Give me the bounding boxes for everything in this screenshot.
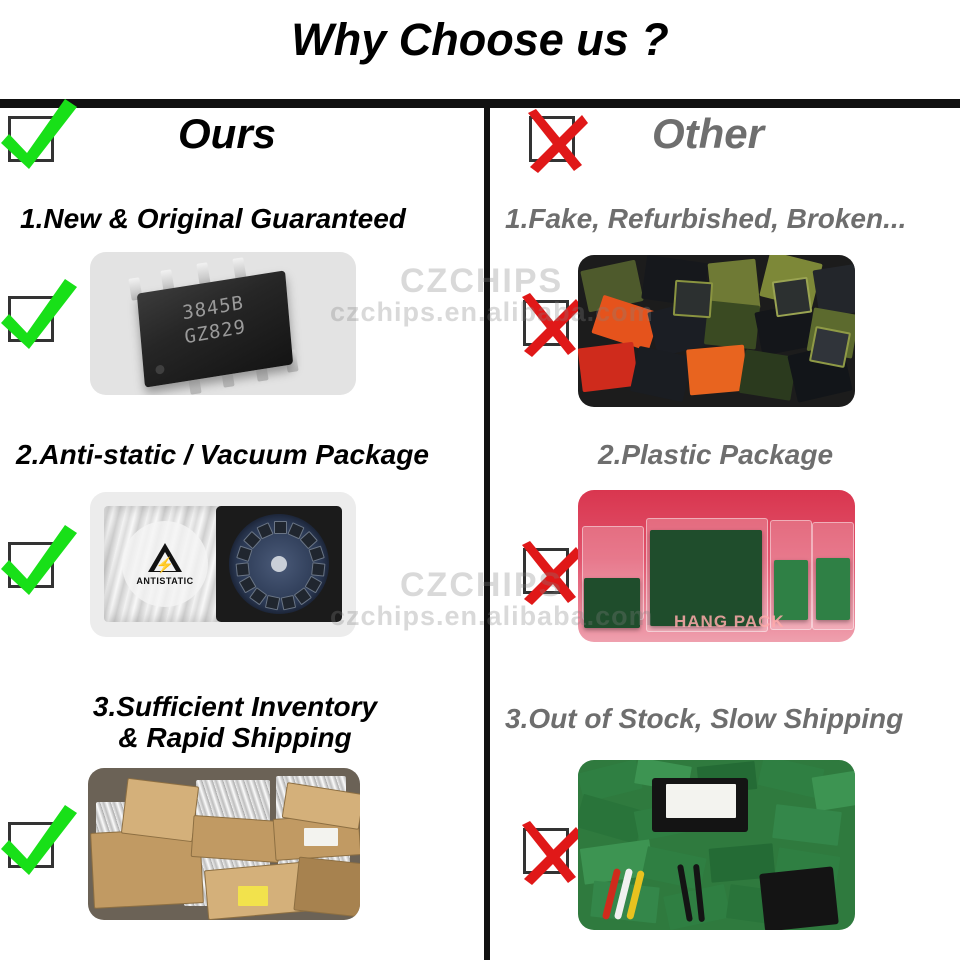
component-reel [229, 514, 329, 614]
check-mark-icon-row-3 [8, 822, 54, 868]
inventory-boxes-photo [88, 768, 360, 920]
cross-mark-icon-row-3 [523, 828, 569, 874]
plastic-package-photo: HANG PACK [578, 490, 855, 642]
antistatic-label: ⚡ ANTISTATIC [122, 521, 208, 607]
page-title: Why Choose us ? [0, 14, 960, 66]
component-reel-tray [216, 506, 342, 622]
cross-mark-icon-row-1 [523, 300, 569, 346]
column-divider [484, 108, 490, 960]
antistatic-bag: ⚡ ANTISTATIC [104, 506, 226, 622]
row-title-ours-3: 3.Sufficient Inventory & Rapid Shipping [0, 691, 470, 754]
chip-pin1-dot [155, 364, 165, 374]
antistatic-caption: ANTISTATIC [136, 576, 193, 586]
pack-brand-text: HANG PACK [674, 612, 785, 632]
scrap-module-label [666, 784, 736, 818]
row-title-other-2: 2.Plastic Package [598, 439, 833, 470]
check-mark-icon-row-1 [8, 296, 54, 342]
ic-chip-photo: 3845B GZ829 [90, 252, 356, 395]
why-choose-us-infographic: Why Choose us ? Ours Other 1.New & Origi… [0, 0, 960, 960]
scrap-chips-photo [578, 255, 855, 407]
header-divider [0, 99, 960, 108]
lightning-bolt-icon: ⚡ [156, 558, 175, 573]
antistatic-package-photo: ⚡ ANTISTATIC [90, 492, 356, 637]
row-title-ours-2: 2.Anti-static / Vacuum Package [16, 439, 429, 470]
cross-mark-icon-header-other [529, 116, 575, 162]
esd-warning-triangle-icon: ⚡ [148, 543, 182, 572]
cross-mark-icon-row-2 [523, 548, 569, 594]
row-title-ours-1: 1.New & Original Guaranteed [20, 203, 406, 234]
row-title-other-3: 3.Out of Stock, Slow Shipping [505, 703, 903, 734]
column-heading-other: Other [652, 110, 764, 158]
reel-hub [271, 556, 287, 572]
row-title-other-1: 1.Fake, Refurbished, Broken... [505, 203, 906, 234]
column-heading-ours: Ours [178, 110, 276, 158]
check-mark-icon-header-ours [8, 116, 54, 162]
check-mark-icon-row-2 [8, 542, 54, 588]
out-of-stock-scrap-photo [578, 760, 855, 930]
chip-body: 3845B GZ829 [137, 270, 293, 387]
